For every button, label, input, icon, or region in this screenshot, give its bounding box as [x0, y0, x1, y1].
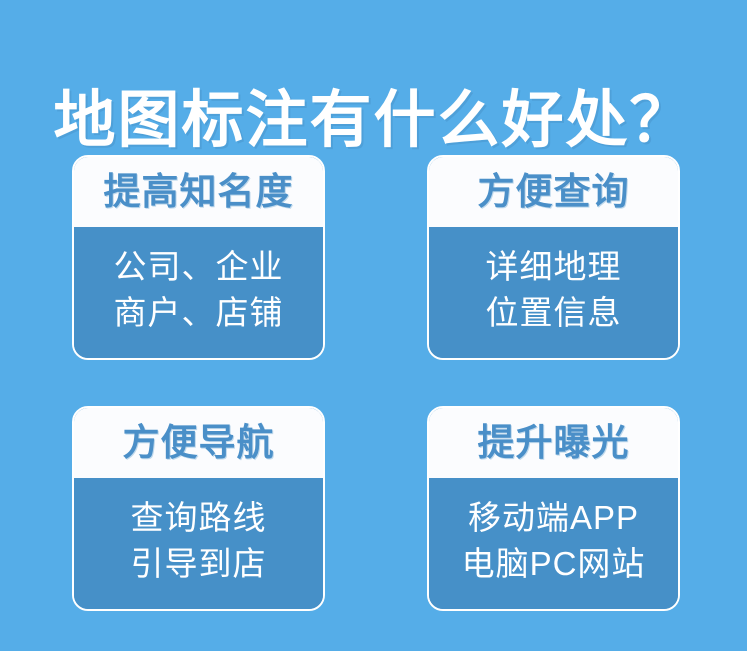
card-body: 移动端APP 电脑PC网站: [429, 478, 678, 609]
card-body-line: 查询路线: [131, 495, 267, 541]
card-body: 公司、企业 商户、店铺: [74, 227, 323, 358]
card-title: 提高知名度: [104, 171, 294, 213]
card-header: 方便导航: [74, 408, 323, 478]
card-header: 提高知名度: [74, 157, 323, 227]
card-title: 方便查询: [478, 171, 630, 213]
card-body: 查询路线 引导到店: [74, 478, 323, 609]
benefit-card-easy-navigation[interactable]: 方便导航 查询路线 引导到店: [72, 406, 325, 611]
card-body-line: 详细地理: [486, 244, 622, 290]
benefit-card-grid: 提高知名度 公司、企业 商户、店铺 方便查询 详细地理 位置信息 方便导航 查询…: [72, 155, 680, 611]
card-body-line: 电脑PC网站: [462, 541, 646, 587]
card-header: 方便查询: [429, 157, 678, 227]
card-title: 方便导航: [123, 422, 275, 464]
card-body-line: 公司、企业: [114, 244, 284, 290]
card-body-line: 移动端APP: [468, 495, 639, 541]
card-body-line: 引导到店: [131, 541, 267, 587]
poster-root: 地图标注有什么好处？ 提高知名度 公司、企业 商户、店铺 方便查询 详细地理 位…: [0, 0, 747, 651]
card-header: 提升曝光: [429, 408, 678, 478]
card-title: 提升曝光: [478, 422, 630, 464]
page-title: 地图标注有什么好处？: [53, 84, 693, 158]
card-body-line: 商户、店铺: [114, 290, 284, 336]
card-body: 详细地理 位置信息: [429, 227, 678, 358]
benefit-card-easy-search[interactable]: 方便查询 详细地理 位置信息: [427, 155, 680, 360]
card-body-line: 位置信息: [486, 290, 622, 336]
benefit-card-more-exposure[interactable]: 提升曝光 移动端APP 电脑PC网站: [427, 406, 680, 611]
benefit-card-brand-awareness[interactable]: 提高知名度 公司、企业 商户、店铺: [72, 155, 325, 360]
